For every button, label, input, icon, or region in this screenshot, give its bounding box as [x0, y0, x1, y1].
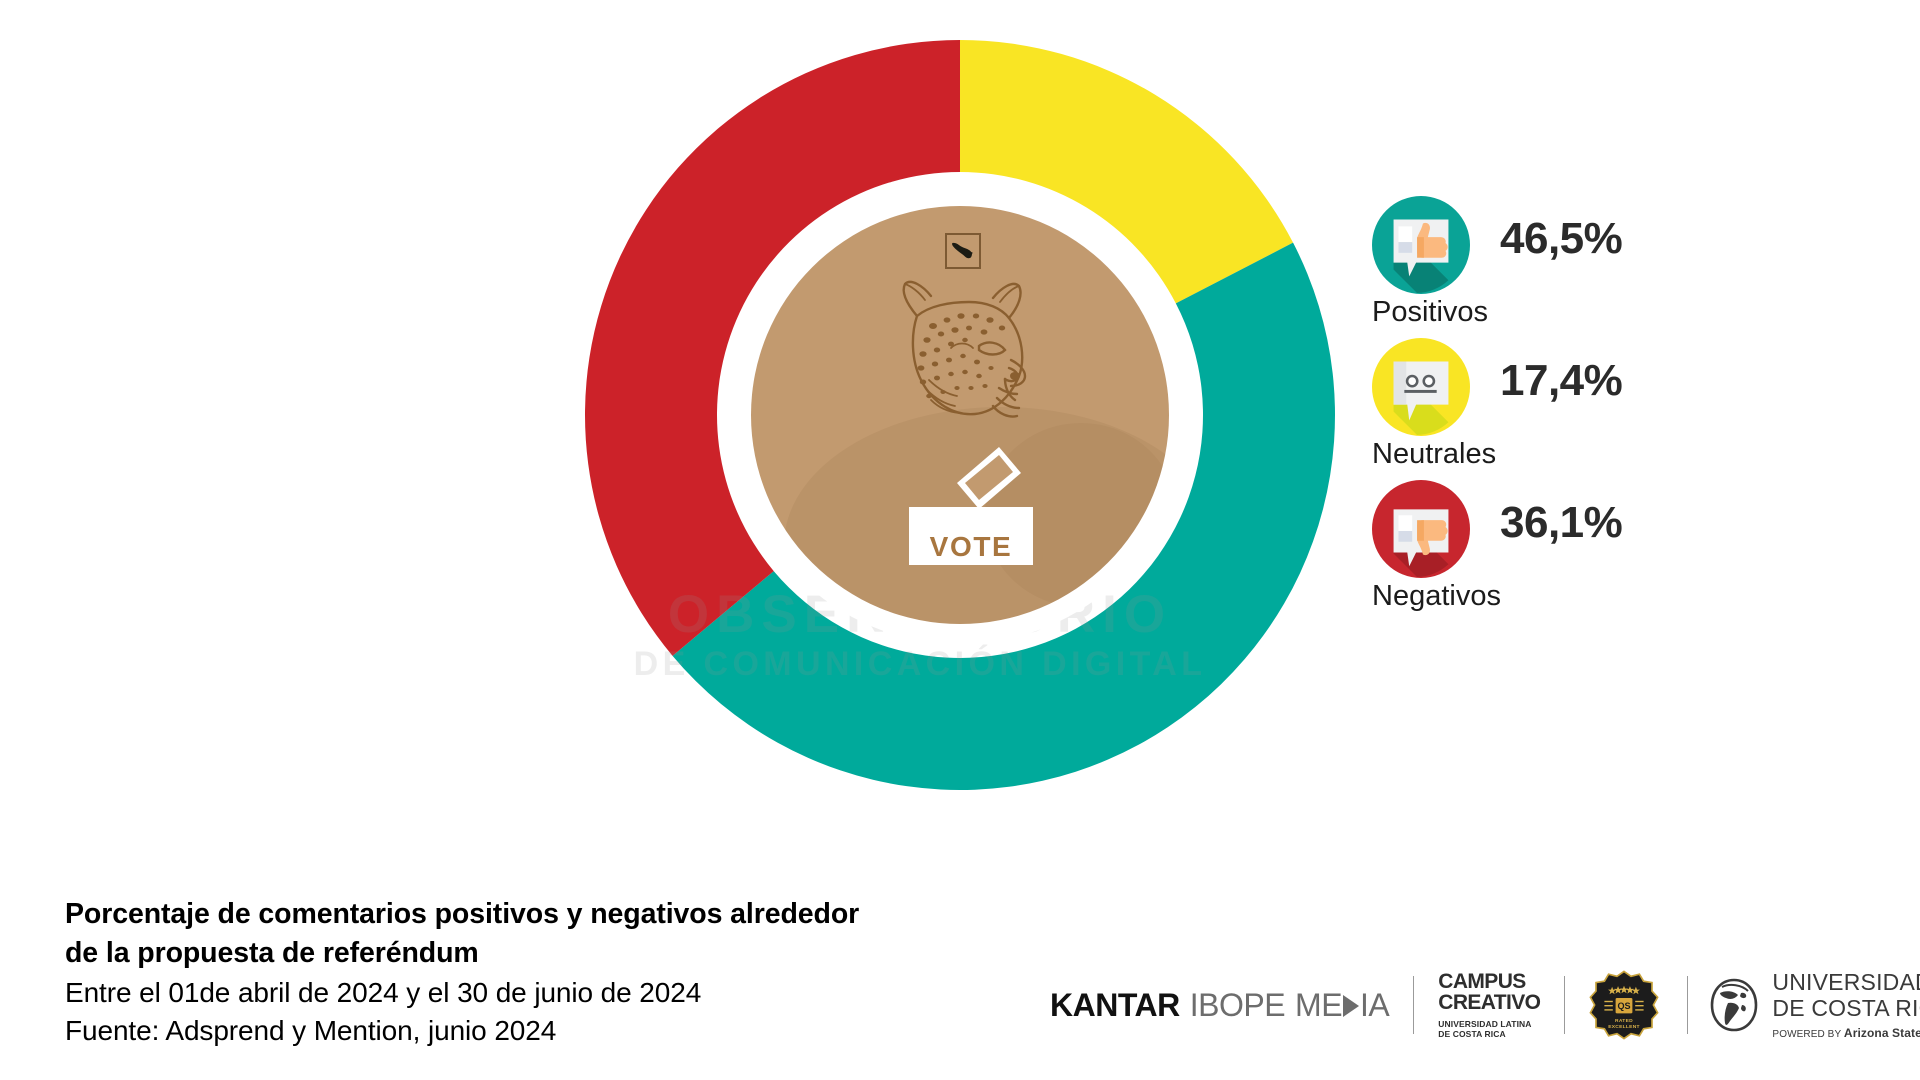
campus-line-2: CREATIVO	[1438, 992, 1540, 1013]
globe-icon	[1708, 977, 1760, 1033]
logo-divider-3	[1687, 976, 1688, 1034]
vote-label: VOTE	[871, 531, 1071, 563]
qs-rated-excellent-seal: QS RATED EXCELLENT	[1589, 970, 1659, 1040]
thumbs-down-speech-bubble-icon	[1372, 480, 1470, 578]
ulatina-line-2: DE COSTA RICA	[1772, 996, 1920, 1022]
campus-sub-1: UNIVERSIDAD LATINA	[1438, 1019, 1540, 1029]
asu-name: Arizona State University	[1844, 1026, 1920, 1040]
svg-text:QS: QS	[1618, 1001, 1631, 1011]
neutral-face-speech-bubble-icon	[1372, 338, 1470, 436]
legend-percent-negativos: 36,1%	[1500, 498, 1622, 548]
footer-logo-strip: KANTAR IBOPE MEIA CAMPUS CREATIVO UNIVER…	[1050, 965, 1920, 1045]
legend-label-positivos: Positivos	[1372, 296, 1488, 329]
triangle-d-icon	[1343, 995, 1359, 1017]
campus-sub-2: DE COSTA RICA	[1438, 1029, 1540, 1039]
caption-title-line-2: de la propuesta de referéndum	[65, 934, 985, 973]
legend-item-positivos: 46,5% Positivos	[1372, 196, 1792, 338]
caption-title-line-1: Porcentaje de comentarios positivos y ne…	[65, 895, 985, 934]
svg-text:EXCELLENT: EXCELLENT	[1609, 1024, 1641, 1030]
ulatina-line-1: UNIVERSIDAD LATINA	[1772, 970, 1920, 996]
thumbs-up-speech-bubble-icon	[1372, 196, 1470, 294]
logo-divider-2	[1564, 976, 1565, 1034]
legend-percent-positivos: 46,5%	[1500, 214, 1622, 264]
chart-caption: Porcentaje de comentarios positivos y ne…	[65, 895, 985, 1050]
ibope-wordmark: IBOPE	[1190, 987, 1285, 1024]
legend-item-neutrales: 17,4% Neutrales	[1372, 338, 1792, 480]
svg-text:RATED: RATED	[1615, 1018, 1633, 1024]
media-wordmark-part-2: IA	[1360, 987, 1389, 1024]
campus-creativo-logo: CAMPUS CREATIVO UNIVERSIDAD LATINA DE CO…	[1438, 971, 1540, 1040]
legend-label-neutrales: Neutrales	[1372, 438, 1496, 471]
chart-legend: 46,5% Positivos 17,4% Neutrales	[1372, 196, 1792, 622]
media-wordmark-part-1: ME	[1295, 987, 1342, 1024]
legend-percent-neutrales: 17,4%	[1500, 356, 1622, 406]
ulatina-powered-by: POWERED BY Arizona State University*	[1772, 1027, 1920, 1040]
powered-by-prefix: POWERED BY	[1772, 1029, 1841, 1040]
legend-label-negativos: Negativos	[1372, 580, 1501, 613]
caption-period: Entre el 01de abril de 2024 y el 30 de j…	[65, 974, 985, 1012]
center-photo: VOTE	[751, 206, 1169, 624]
ulatina-text-block: UNIVERSIDAD LATINA DE COSTA RICA POWERED…	[1772, 970, 1920, 1040]
donut-center-medallion: VOTE	[731, 186, 1189, 644]
caption-source: Fuente: Adsprend y Mention, junio 2024	[65, 1012, 985, 1050]
legend-item-negativos: 36,1% Negativos	[1372, 480, 1792, 622]
universidad-latina-logo: UNIVERSIDAD LATINA DE COSTA RICA POWERED…	[1708, 970, 1920, 1040]
kantar-wordmark: KANTAR	[1050, 987, 1180, 1024]
campus-line-1: CAMPUS	[1438, 971, 1540, 992]
donut-chart-area: OBSERVATORIO DE COMUNICACIÓN DIGITAL	[0, 0, 1340, 840]
kantar-ibope-media-logo: KANTAR IBOPE MEIA	[1050, 987, 1389, 1024]
ballot-box-illustration: VOTE	[871, 411, 1071, 601]
logo-divider-1	[1413, 976, 1414, 1034]
